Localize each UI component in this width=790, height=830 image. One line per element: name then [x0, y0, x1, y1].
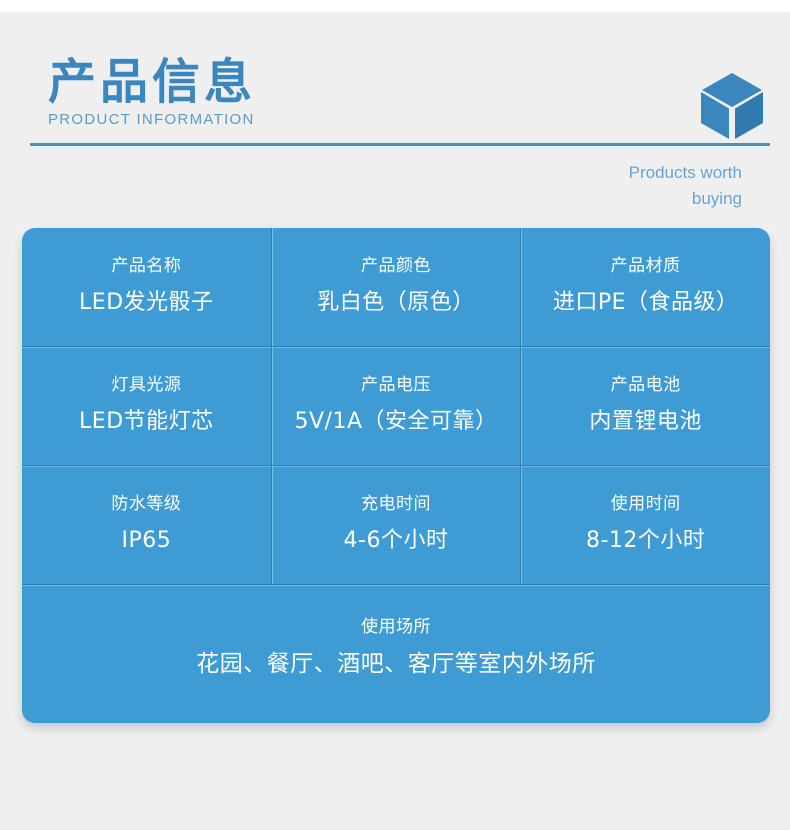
spec-cell-battery: 产品电池 内置锂电池 — [520, 347, 770, 465]
spec-value: 进口PE（食品级） — [529, 288, 762, 318]
table-row: 灯具光源 LED节能灯芯 产品电压 5V/1A（安全可靠） 产品电池 内置锂电池 — [22, 347, 770, 466]
table-row: 产品名称 LED发光骰子 产品颜色 乳白色（原色） 产品材质 进口PE（食品级） — [22, 228, 770, 347]
cube-box-icon — [700, 72, 764, 140]
spec-value: LED发光骰子 — [30, 288, 263, 318]
spec-cell-light-source: 灯具光源 LED节能灯芯 — [22, 347, 271, 465]
table-row: 防水等级 IP65 充电时间 4-6个小时 使用时间 8-12个小时 — [22, 466, 770, 585]
spec-cell-usage-scenarios: 使用场所 花园、餐厅、酒吧、客厅等室内外场所 — [22, 585, 770, 723]
spec-value: 4-6个小时 — [280, 526, 513, 556]
spec-cell-product-color: 产品颜色 乳白色（原色） — [271, 228, 521, 346]
spec-cell-waterproof-rating: 防水等级 IP65 — [22, 466, 271, 584]
spec-cell-usage-time: 使用时间 8-12个小时 — [520, 466, 770, 584]
spec-label: 充电时间 — [280, 492, 513, 516]
title-block: 产品信息 PRODUCT INFORMATION — [48, 57, 256, 128]
spec-label: 防水等级 — [30, 492, 263, 516]
spec-label: 产品材质 — [529, 254, 762, 278]
spec-value: 内置锂电池 — [529, 407, 762, 437]
spec-value: 乳白色（原色） — [280, 288, 513, 318]
tagline-line-2: buying — [462, 186, 742, 212]
spec-label: 产品电池 — [529, 373, 762, 397]
tagline-line-1: Products worth — [462, 160, 742, 186]
tagline: Products worth buying — [462, 160, 742, 212]
spec-label: 产品颜色 — [280, 254, 513, 278]
spec-label: 使用时间 — [529, 492, 762, 516]
spec-value: 花园、餐厅、酒吧、客厅等室内外场所 — [30, 649, 762, 679]
spec-value: 8-12个小时 — [529, 526, 762, 556]
page-subtitle: PRODUCT INFORMATION — [48, 111, 256, 128]
spec-value: IP65 — [30, 526, 263, 556]
page-title: 产品信息 — [48, 57, 256, 107]
table-row: 使用场所 花园、餐厅、酒吧、客厅等室内外场所 — [22, 585, 770, 723]
page-header: 产品信息 PRODUCT INFORMATION Products worth … — [0, 12, 790, 217]
spec-cell-product-material: 产品材质 进口PE（食品级） — [520, 228, 770, 346]
spec-cell-charging-time: 充电时间 4-6个小时 — [271, 466, 521, 584]
spec-label: 产品名称 — [30, 254, 263, 278]
spec-label: 产品电压 — [280, 373, 513, 397]
spec-cell-product-name: 产品名称 LED发光骰子 — [22, 228, 271, 346]
spec-value: LED节能灯芯 — [30, 407, 263, 437]
product-information-page: 产品信息 PRODUCT INFORMATION Products worth … — [0, 0, 790, 830]
header-divider — [30, 143, 770, 146]
spec-label: 灯具光源 — [30, 373, 263, 397]
spec-cell-voltage: 产品电压 5V/1A（安全可靠） — [271, 347, 521, 465]
product-spec-table: 产品名称 LED发光骰子 产品颜色 乳白色（原色） 产品材质 进口PE（食品级）… — [22, 228, 770, 723]
spec-value: 5V/1A（安全可靠） — [280, 407, 513, 437]
spec-label: 使用场所 — [30, 615, 762, 639]
